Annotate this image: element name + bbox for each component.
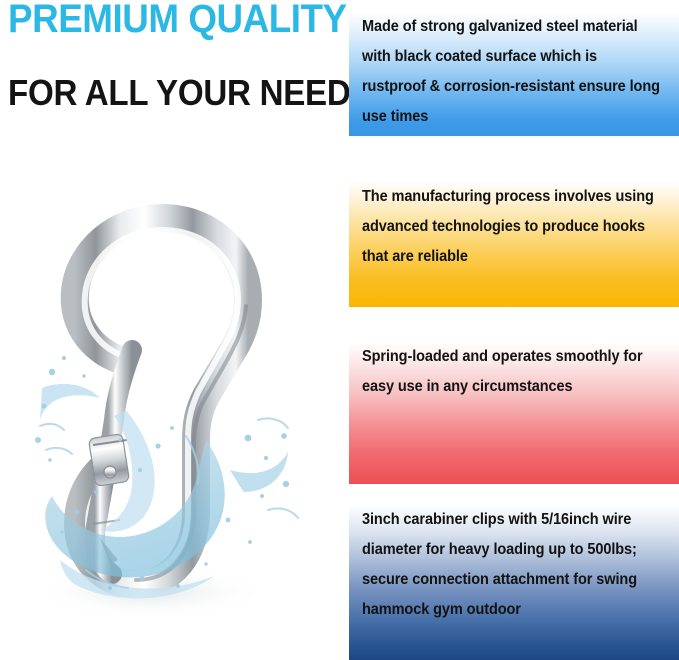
left-panel: PREMIUM QUALITY FOR ALL YOUR NEED [0,0,345,660]
feature-box-manufacturing: The manufacturing process involves using… [349,170,679,307]
feature-text-material: Made of strong galvanized steel material… [362,12,662,132]
feature-box-material: Made of strong galvanized steel material… [349,0,679,136]
product-image-carabiner [0,140,345,660]
product-infographic: PREMIUM QUALITY FOR ALL YOUR NEED [0,0,679,660]
feature-list: Made of strong galvanized steel material… [349,0,679,660]
headline-premium-quality: PREMIUM QUALITY [8,0,313,40]
feature-text-operation: Spring-loaded and operates smoothly for … [362,342,662,402]
feature-text-manufacturing: The manufacturing process involves using… [362,182,662,272]
feature-box-operation: Spring-loaded and operates smoothly for … [349,330,679,484]
headline-for-all-your-need: FOR ALL YOUR NEED [8,74,313,112]
feature-box-specifications: 3inch carabiner clips with 5/16inch wire… [349,493,679,660]
feature-text-specifications: 3inch carabiner clips with 5/16inch wire… [362,505,662,625]
